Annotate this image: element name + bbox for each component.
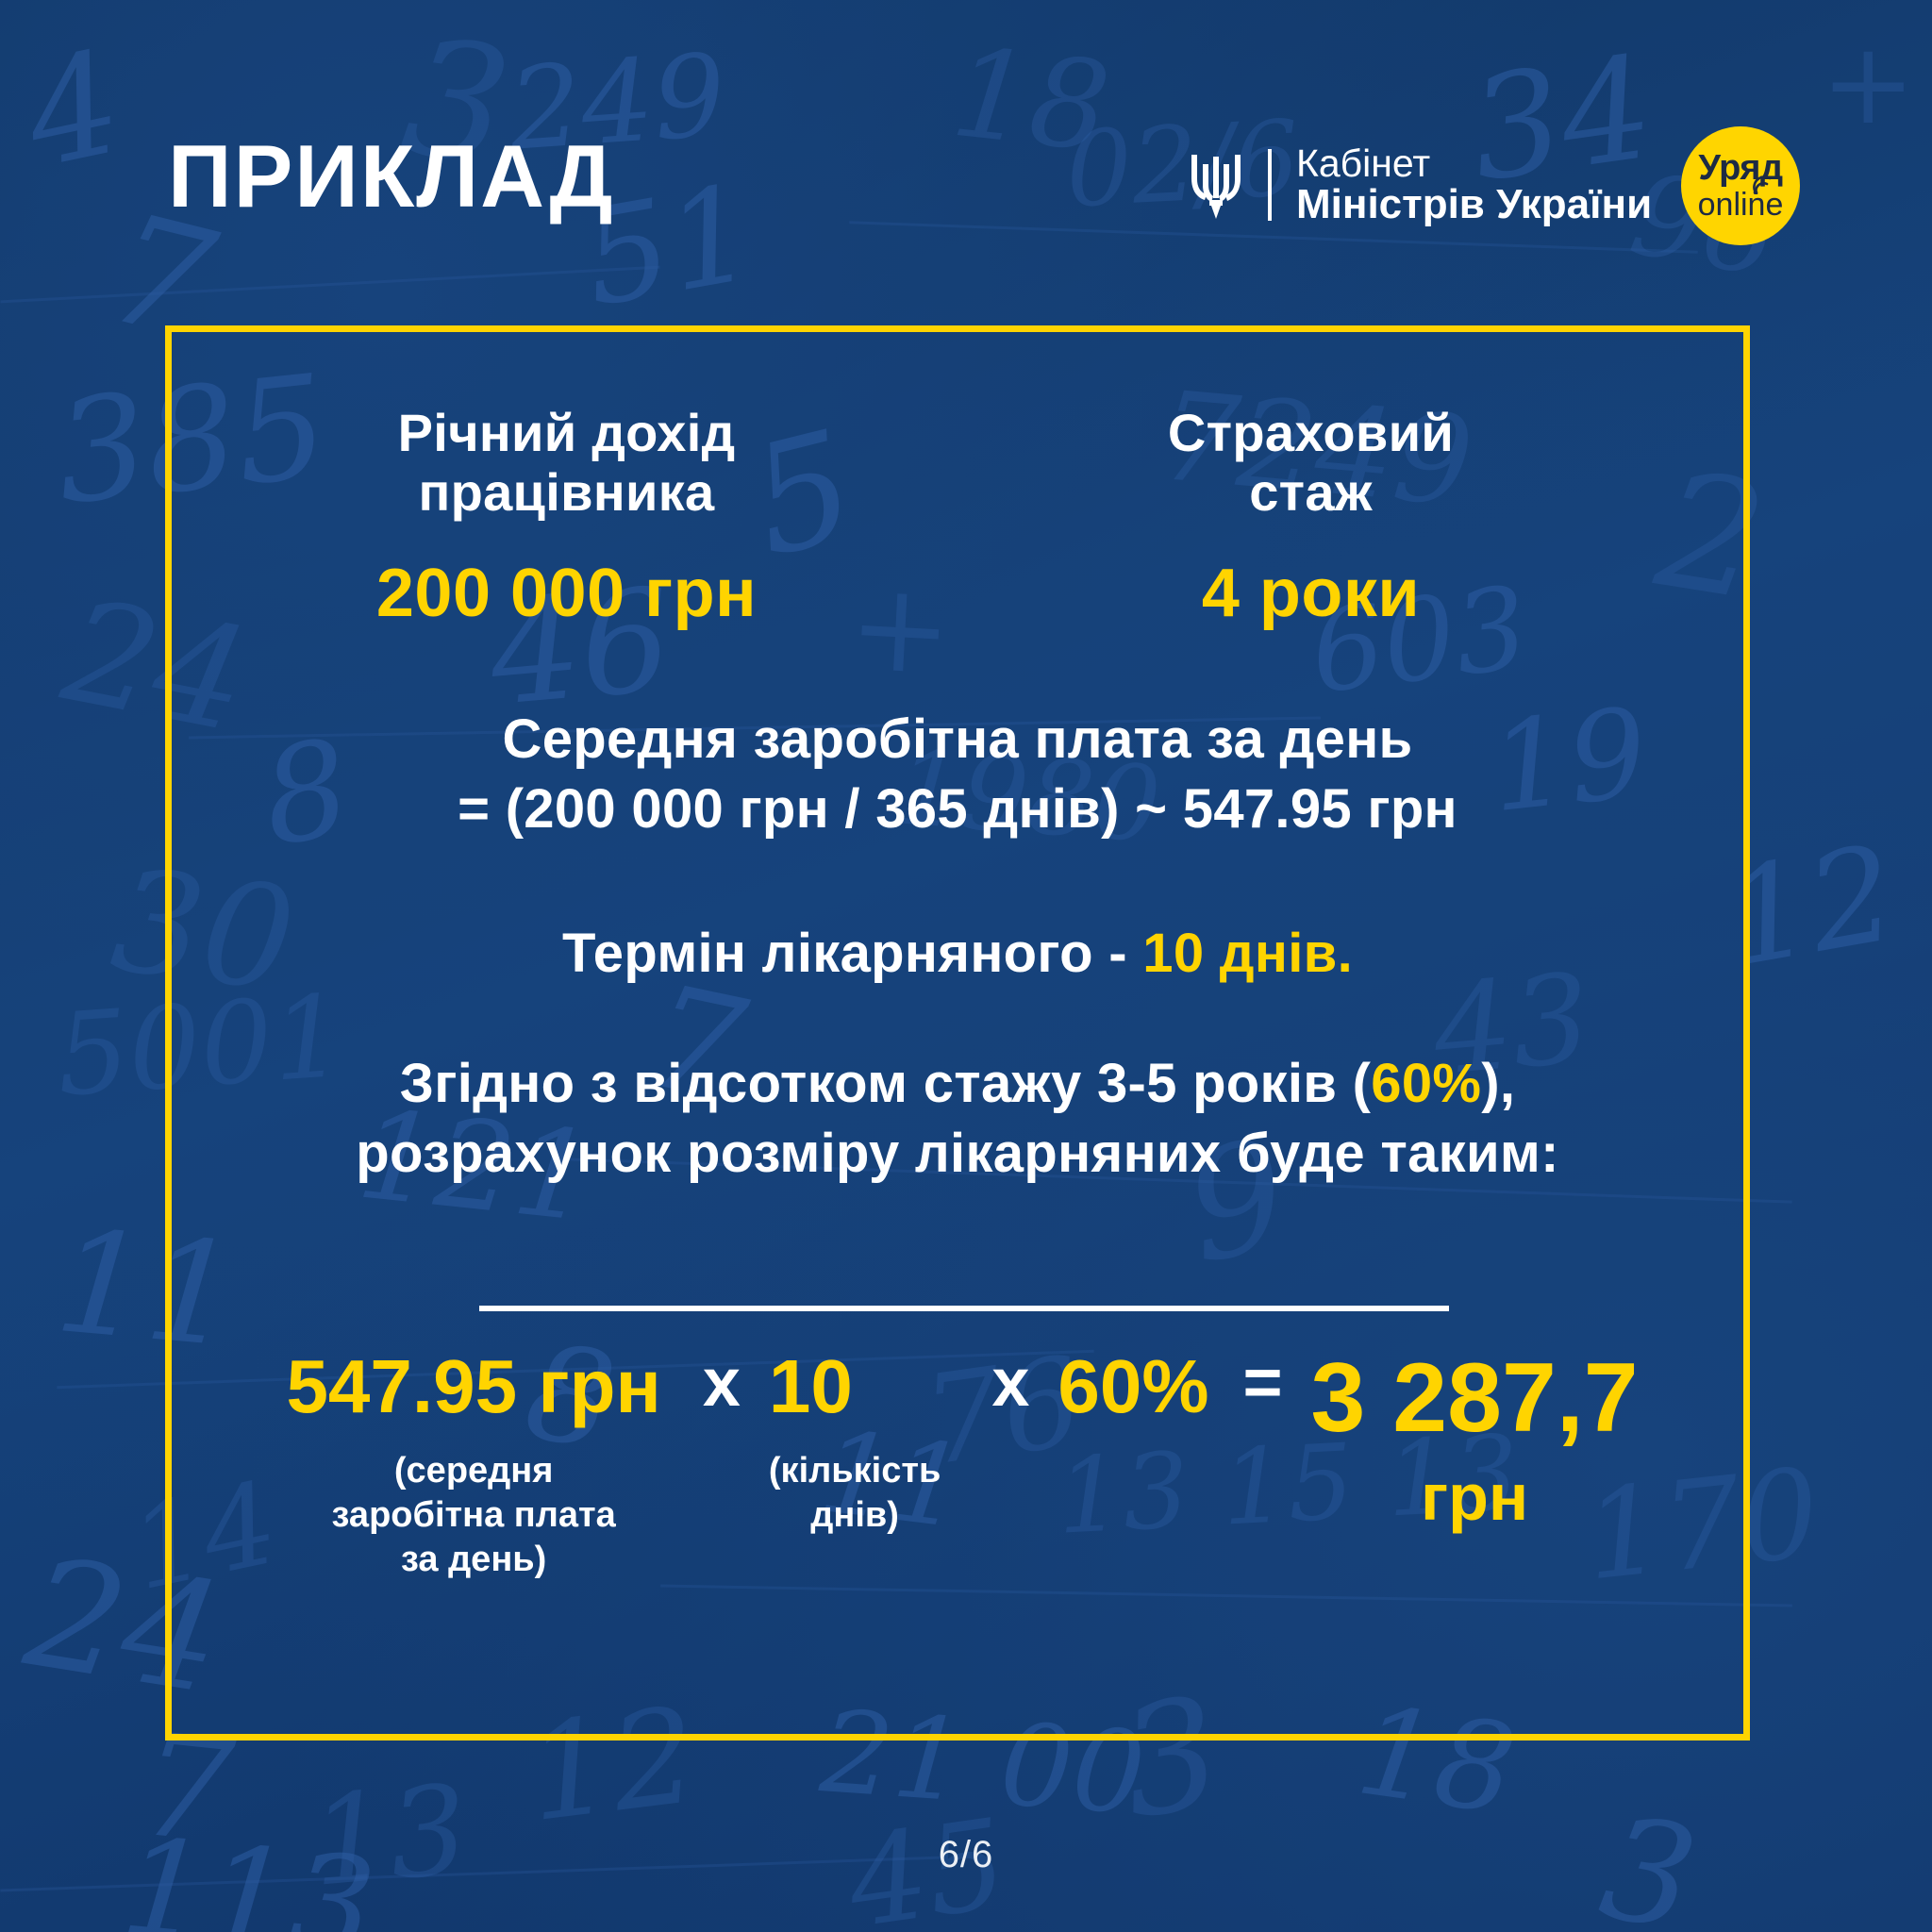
formula-days: 10 (кількість днів): [769, 1349, 941, 1538]
formula-rate-value: 547.95 грн: [286, 1349, 660, 1424]
logo-divider: [1268, 149, 1272, 221]
formula-equals-symbol: =: [1243, 1349, 1283, 1417]
formula-equals: =: [1243, 1349, 1283, 1417]
slide-header: ПРИКЛАД Кабінет Міністрів України: [0, 125, 1932, 257]
percentage-rule-line1: Згідно з відсотком стажу 3-5 років (60%)…: [172, 1049, 1743, 1119]
sick-leave-term-label: Термін лікарняного -: [562, 923, 1142, 984]
column-annual-income: Річний дохід працівника 200 000 грн: [194, 403, 939, 632]
insurance-record-heading-line2: стаж: [939, 462, 1683, 522]
trident-icon: [1189, 149, 1243, 221]
content-panel: Річний дохід працівника 200 000 грн Стра…: [165, 325, 1750, 1740]
formula-percent-value: 60%: [1058, 1349, 1208, 1424]
percentage-rule-suffix: ),: [1481, 1053, 1515, 1114]
formula-days-value: 10: [769, 1349, 941, 1424]
uryad-online-logo[interactable]: Уряд online: [1681, 126, 1800, 245]
average-daily-wage-line1: Середня заробітна плата за день: [172, 705, 1743, 774]
annual-income-heading: Річний дохід працівника: [194, 403, 939, 523]
sick-leave-term-value: 10 днів.: [1142, 923, 1353, 984]
formula-percent: 60%: [1058, 1349, 1208, 1424]
formula-row: 547.95 грн (середня заробітна плата за д…: [172, 1349, 1743, 1582]
formula-operator-1: х: [703, 1349, 741, 1417]
insurance-record-heading-line1: Страховий: [939, 403, 1683, 462]
annual-income-value: 200 000 грн: [194, 555, 939, 632]
cabinet-logo-line1: Кабінет: [1296, 143, 1652, 183]
wifi-icon: [1751, 175, 1775, 194]
formula-operator-2-symbol: х: [991, 1349, 1029, 1417]
infographic-slide: 432491834+702/6519638572495246+603248198…: [0, 0, 1932, 1932]
insurance-record-value: 4 роки: [939, 555, 1683, 632]
percentage-rule-prefix: Згідно з відсотком стажу 3-5 років (: [400, 1053, 1372, 1114]
formula-result: 3 287,7 грн: [1311, 1349, 1639, 1530]
formula-operator-1-symbol: х: [703, 1349, 741, 1417]
formula-result-unit: грн: [1311, 1464, 1639, 1530]
formula-days-note: (кількість днів): [769, 1449, 941, 1538]
formula-rate-note: (середня заробітна плата за день): [286, 1449, 660, 1582]
annual-income-heading-line1: Річний дохід: [194, 403, 939, 462]
formula-rate: 547.95 грн (середня заробітна плата за д…: [286, 1349, 660, 1582]
annual-income-heading-line2: працівника: [194, 462, 939, 522]
average-daily-wage-block: Середня заробітна плата за день = (200 0…: [172, 705, 1743, 844]
cabinet-logo-text: Кабінет Міністрів України: [1296, 143, 1652, 226]
formula-divider: [479, 1306, 1449, 1311]
summary-columns: Річний дохід працівника 200 000 грн Стра…: [172, 403, 1743, 632]
column-insurance-record: Страховий стаж 4 роки: [939, 403, 1683, 632]
average-daily-wage-line2: = (200 000 грн / 365 днів) ~ 547.95 грн: [172, 774, 1743, 844]
insurance-record-heading: Страховий стаж: [939, 403, 1683, 523]
percentage-rule-line2: розрахунок розміру лікарняних буде таким…: [172, 1119, 1743, 1189]
percentage-rule-block: Згідно з відсотком стажу 3-5 років (60%)…: [172, 1049, 1743, 1189]
page-title: ПРИКЛАД: [168, 132, 615, 221]
sick-leave-term-block: Термін лікарняного - 10 днів.: [172, 922, 1743, 985]
page-indicator: 6/6: [0, 1834, 1932, 1876]
cabinet-logo-line2: Міністрів України: [1296, 183, 1652, 225]
percentage-rule-highlight: 60%: [1371, 1053, 1481, 1114]
formula-result-value: 3 287,7: [1311, 1349, 1639, 1447]
background-scribble-line: [0, 266, 659, 304]
formula-operator-2: х: [991, 1349, 1029, 1417]
cabinet-of-ministers-logo: Кабінет Міністрів України: [1189, 143, 1652, 226]
